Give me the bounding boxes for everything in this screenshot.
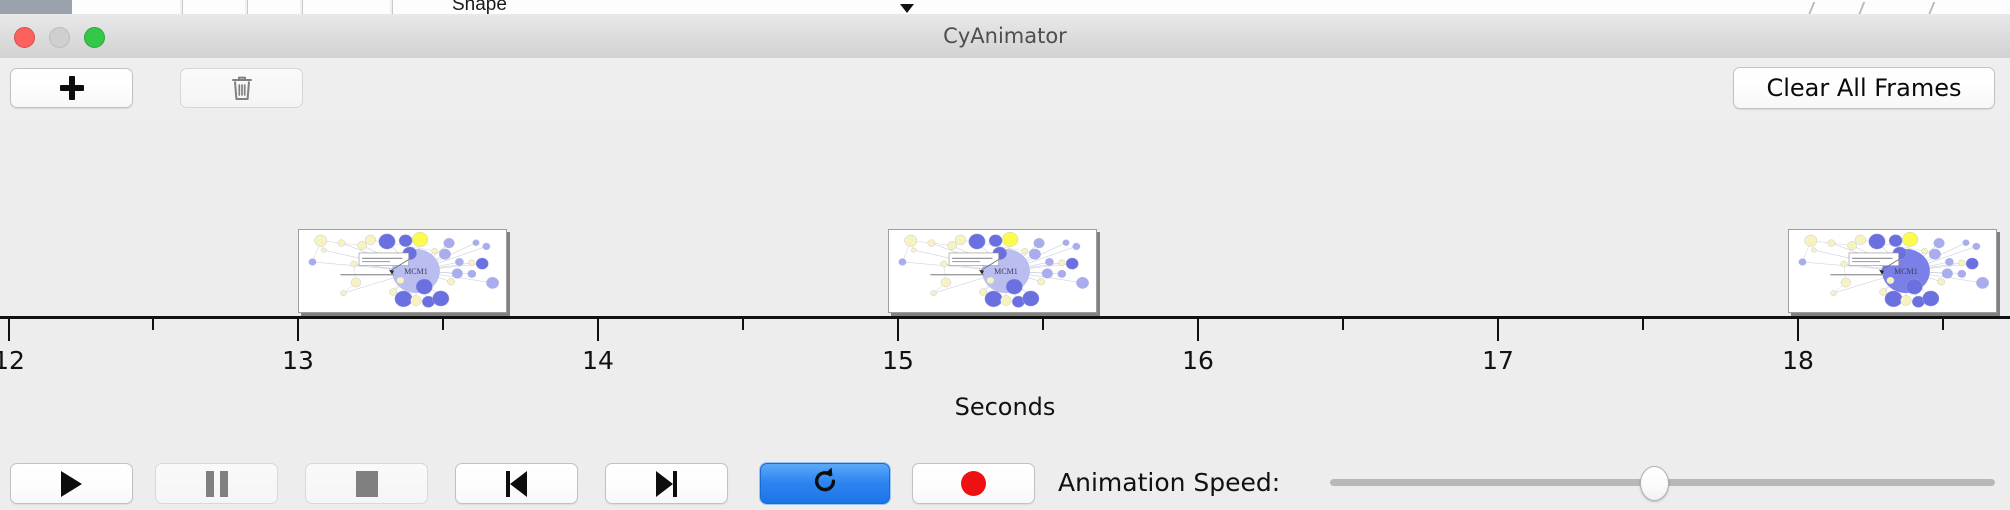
loop-button[interactable] xyxy=(760,463,890,504)
frames-toolbar: Clear All Frames xyxy=(0,58,2010,119)
ruler-tick xyxy=(897,319,899,341)
background-app-caret-icon xyxy=(900,4,914,13)
ruler-tick xyxy=(1497,319,1499,341)
animation-speed-slider[interactable] xyxy=(1330,455,1995,510)
background-app-divider xyxy=(390,0,393,14)
ruler-tick-label: 15 xyxy=(882,346,914,375)
background-app-divider xyxy=(180,0,183,14)
svg-text:MCM1: MCM1 xyxy=(994,267,1018,276)
clear-all-frames-button[interactable]: Clear All Frames xyxy=(1733,67,1995,109)
timeline-panel[interactable]: MCM1MCM1MCM1 Seconds 12131415161718 xyxy=(0,118,2010,428)
ruler-tick xyxy=(152,319,154,330)
first-frame-button[interactable] xyxy=(455,463,578,504)
ruler-tick-label: 16 xyxy=(1182,346,1214,375)
ruler-tick xyxy=(1942,319,1944,330)
ruler-tick xyxy=(1197,319,1199,341)
network-graph: MCM1 xyxy=(1789,230,1996,312)
ruler-tick xyxy=(1797,319,1799,341)
trash-icon xyxy=(231,75,253,101)
ruler-tick xyxy=(442,319,444,330)
ruler-tick-label: 18 xyxy=(1782,346,1814,375)
ruler-tick xyxy=(1042,319,1044,330)
play-icon xyxy=(61,471,82,497)
ruler-baseline xyxy=(0,316,2010,319)
background-app-divider xyxy=(300,0,303,14)
keyframe-thumbnail[interactable]: MCM1 xyxy=(298,229,507,313)
background-app-label: Shape xyxy=(452,0,507,15)
keyframe-thumbnail[interactable]: MCM1 xyxy=(888,229,1097,313)
cyanimator-window: CyAnimator Clear All Frames MCM1MCM1MCM1 xyxy=(0,14,2010,510)
background-app-strip: Shape xyxy=(0,0,2010,15)
keyframe-thumbnail[interactable]: MCM1 xyxy=(1788,229,1997,313)
ruler-axis-title: Seconds xyxy=(0,393,2010,421)
stop-button[interactable] xyxy=(305,463,428,504)
plus-icon xyxy=(60,76,84,100)
keyframe-strip[interactable]: MCM1MCM1MCM1 xyxy=(0,118,2010,313)
ruler-tick xyxy=(742,319,744,330)
pause-icon xyxy=(206,471,228,497)
window-title: CyAnimator xyxy=(0,14,2010,58)
play-button[interactable] xyxy=(10,463,133,504)
last-frame-button[interactable] xyxy=(605,463,728,504)
ruler-tick xyxy=(1342,319,1344,330)
network-graph: MCM1 xyxy=(299,230,506,312)
skip-previous-icon xyxy=(506,471,527,497)
svg-text:MCM1: MCM1 xyxy=(1894,267,1918,276)
timeline-ruler[interactable]: Seconds 12131415161718 xyxy=(0,313,2010,428)
delete-frame-button[interactable] xyxy=(180,68,303,108)
animation-speed-label: Animation Speed: xyxy=(1058,455,1280,510)
skip-next-icon xyxy=(656,471,677,497)
add-frame-button[interactable] xyxy=(10,68,133,108)
svg-text:MCM1: MCM1 xyxy=(404,267,428,276)
ruler-tick xyxy=(597,319,599,341)
record-button[interactable] xyxy=(912,463,1035,504)
ruler-tick-label: 17 xyxy=(1482,346,1514,375)
background-app-sidebar xyxy=(0,0,72,14)
slider-thumb[interactable] xyxy=(1640,466,1669,501)
background-app-divider xyxy=(245,0,248,14)
pause-button[interactable] xyxy=(155,463,278,504)
network-graph: MCM1 xyxy=(889,230,1096,312)
ruler-tick xyxy=(297,319,299,341)
ruler-tick-label: 14 xyxy=(582,346,614,375)
loop-icon xyxy=(810,466,840,501)
ruler-tick xyxy=(8,319,10,341)
ruler-tick-label: 13 xyxy=(282,346,314,375)
window-titlebar: CyAnimator xyxy=(0,14,2010,59)
clear-all-frames-label: Clear All Frames xyxy=(1766,74,1961,102)
playback-control-bar: Animation Speed: xyxy=(0,455,2010,510)
ruler-tick xyxy=(1642,319,1644,330)
stop-icon xyxy=(356,471,378,497)
record-icon xyxy=(961,471,986,496)
ruler-tick-label: 12 xyxy=(0,346,25,375)
